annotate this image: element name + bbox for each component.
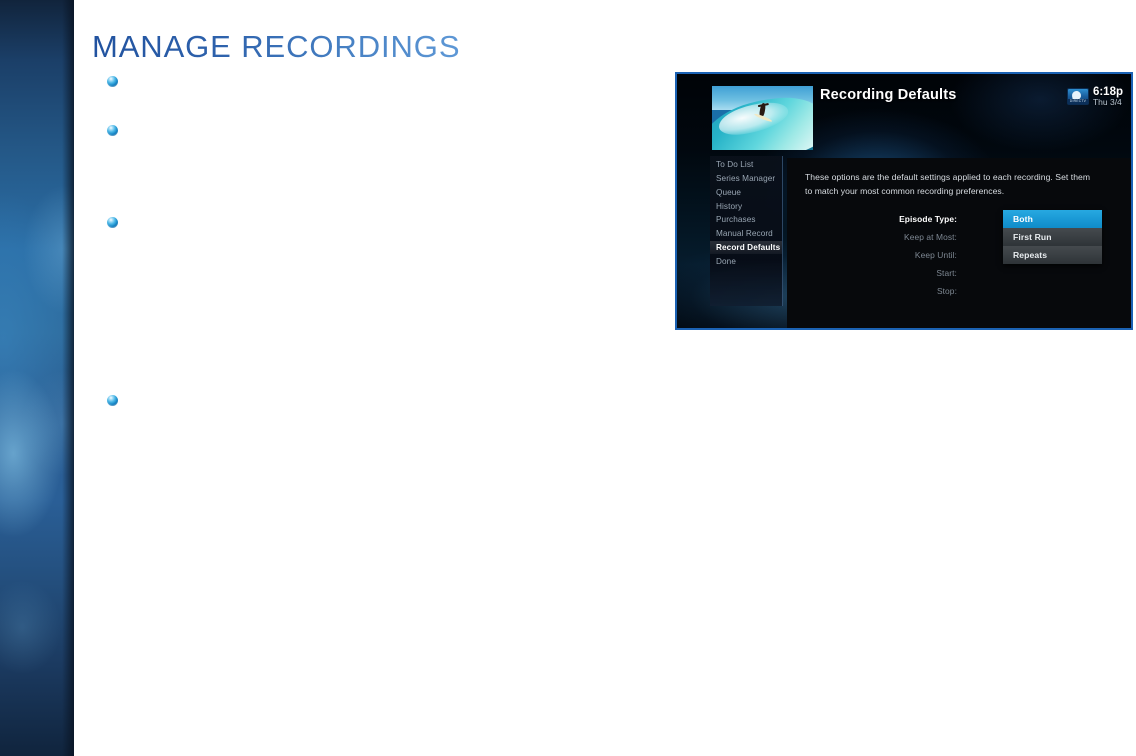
tv-nav-item-purchases[interactable]: Purchases [710,213,782,227]
list-item [107,395,131,406]
tv-nav-item-manual-record[interactable]: Manual Record [710,227,782,241]
tv-content-panel: These options are the default settings a… [787,158,1131,328]
list-item [107,217,131,228]
dropdown-option-repeats[interactable]: Repeats [1003,246,1102,264]
list-item [107,125,131,136]
tv-nav-item-queue[interactable]: Queue [710,186,782,200]
bullet-sphere-icon [107,125,118,136]
dropdown-option-both[interactable]: Both [1003,210,1102,228]
tv-nav-item-history[interactable]: History [710,199,782,213]
tv-nav-menu[interactable]: To Do List Series Manager Queue History … [710,156,783,306]
episode-type-dropdown[interactable]: Both First Run Repeats [1003,210,1102,264]
clock-block: 6:18p Thu 3/4 [1093,86,1123,107]
bullet-sphere-icon [107,395,118,406]
list-item [107,76,131,87]
label-keep-until: Keep Until: [787,250,965,260]
video-thumbnail [712,86,813,150]
tv-nav-item-record-defaults[interactable]: Record Defaults [710,241,782,255]
directv-logo-icon: DIRECTV [1067,88,1089,105]
tv-screenshot-figure: Recording Defaults DIRECTV 6:18p Thu 3/4… [675,72,1133,330]
tv-description-text: These options are the default settings a… [805,171,1095,198]
page-title: MANAGE RECORDINGS [92,29,460,65]
tv-status-cluster: DIRECTV 6:18p Thu 3/4 [1067,86,1123,107]
tv-nav-item-to-do-list[interactable]: To Do List [710,158,782,172]
bullet-sphere-icon [107,76,118,87]
tv-screen-background: Recording Defaults DIRECTV 6:18p Thu 3/4… [677,74,1131,328]
label-stop: Stop: [787,286,965,296]
directv-wordmark: DIRECTV [1068,99,1088,104]
form-row-start[interactable]: Start: [787,264,1131,282]
tv-page-title: Recording Defaults [820,87,957,103]
sidebar-decorative-strip [0,0,74,756]
tv-nav-item-series-manager[interactable]: Series Manager [710,172,782,186]
form-row-stop[interactable]: Stop: [787,282,1131,300]
bullet-sphere-icon [107,217,118,228]
tv-nav-item-done[interactable]: Done [710,254,782,268]
label-start: Start: [787,268,965,278]
dropdown-option-first-run[interactable]: First Run [1003,228,1102,246]
label-episode-type: Episode Type: [787,214,965,224]
clock-date: Thu 3/4 [1093,98,1123,107]
label-keep-at-most: Keep at Most: [787,232,965,242]
